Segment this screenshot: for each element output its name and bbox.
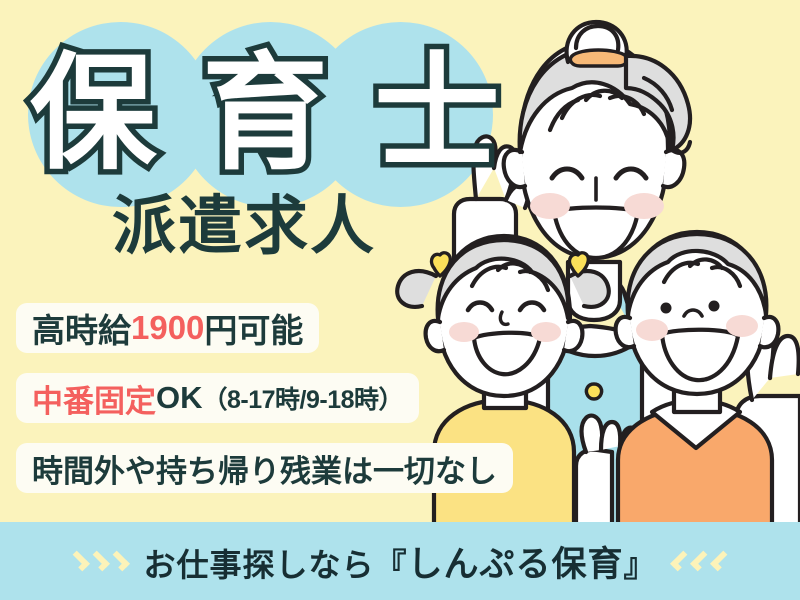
badge-2-part-3: （8-17時/9-18時） [203,380,404,416]
chevron-left-group-icon [673,548,728,574]
chevron-left-icon [693,548,708,574]
badge-no-overtime: 時間外や持ち帰り残業は一切なし [16,443,513,493]
chevron-right-icon [72,548,87,574]
banner-text-suffix: 』 [624,547,657,583]
badge-3-part-1: 時間外や持ち帰り残業は一切なし [32,446,497,491]
badge-1-part-1: 高時給 [32,304,131,352]
badge-hourly-wage: 高時給 1900 円可能 [16,303,319,353]
chevron-left-icon [713,548,728,574]
page-subtitle: 派遣求人 [112,194,376,258]
chevron-right-icon [92,548,107,574]
badge-2-part-1: 中番固定 [32,376,156,421]
banner-text-prefix: お仕事探しなら『 [143,547,407,583]
brand-name: しんぷる保育 [407,545,623,584]
badge-1-part-2: 1900 [131,309,204,347]
badge-1-part-3: 円可能 [204,304,303,352]
chevron-right-group-icon [72,548,127,574]
chevron-right-icon [112,548,127,574]
bottom-banner: お仕事探しなら『しんぷる保育』 [0,522,800,600]
poster-canvas: 保 育 士 派遣求人 高時給 1900 円可能 中番固定 OK （8-17時/9… [0,0,800,600]
banner-tagline: お仕事探しなら『しんぷる保育』 [143,536,656,587]
badge-fixed-shift: 中番固定 OK （8-17時/9-18時） [16,373,419,423]
badge-2-part-2: OK [156,380,203,416]
chevron-left-icon [673,548,688,574]
